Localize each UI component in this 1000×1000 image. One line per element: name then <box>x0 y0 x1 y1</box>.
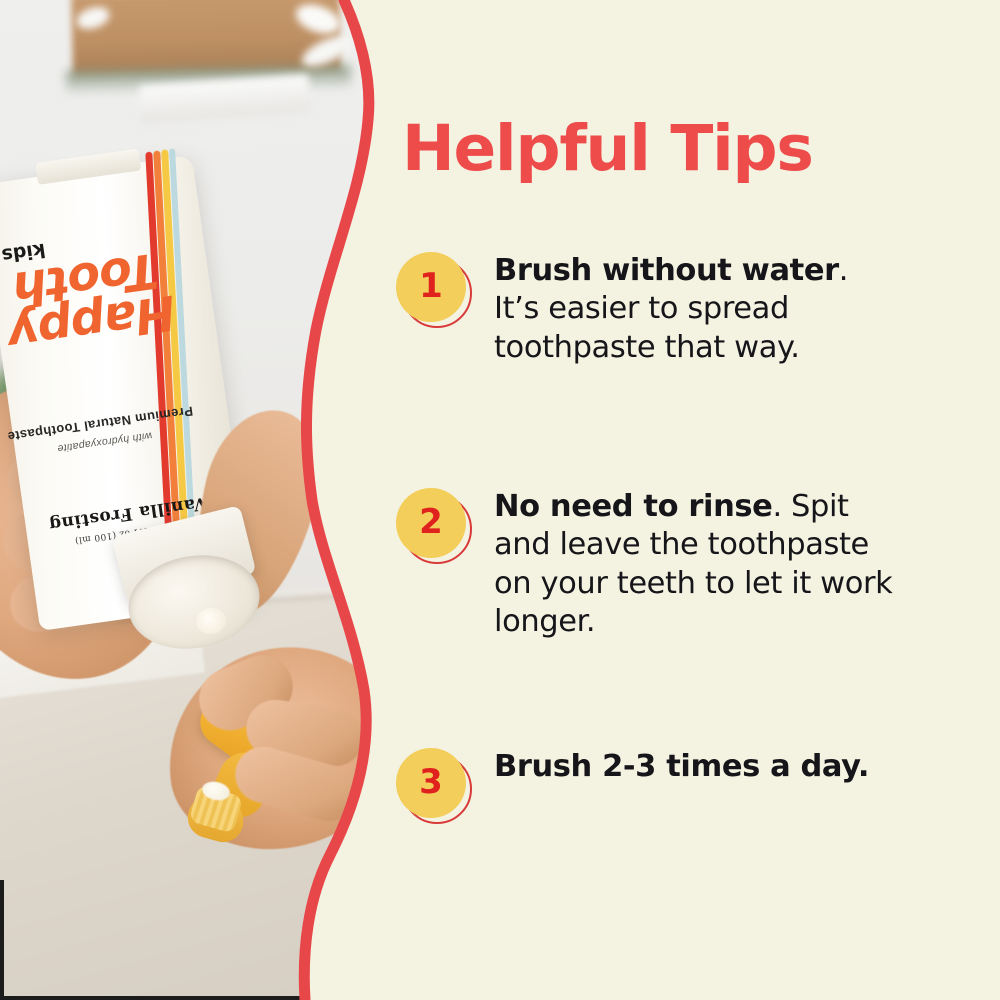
tips-panel: Helpful Tips 1 Brush without water. It’s… <box>380 0 1000 1000</box>
tip-badge: 1 <box>394 252 472 330</box>
badge-number: 3 <box>419 765 443 799</box>
tip-badge: 2 <box>394 488 472 566</box>
page-title: Helpful Tips <box>402 112 902 185</box>
tip-item: 3 Brush 2-3 times a day. <box>394 748 914 826</box>
badge-number: 1 <box>419 269 443 303</box>
tip-badge: 3 <box>394 748 472 826</box>
tip-text: No need to rinse. Spit and leave the too… <box>494 488 902 642</box>
tip-lead: Brush 2-3 times a day. <box>494 749 869 784</box>
tip-item: 1 Brush without water. It’s easier to sp… <box>394 252 914 367</box>
product-photo: kids Happy Tooth Premium Natural Toothpa… <box>0 0 380 1000</box>
badge-fill: 3 <box>396 748 466 818</box>
tip-text: Brush without water. It’s easier to spre… <box>494 252 902 367</box>
tip-lead: No need to rinse <box>494 489 772 524</box>
infographic-canvas: kids Happy Tooth Premium Natural Toothpa… <box>0 0 1000 1000</box>
tip-lead: Brush without water <box>494 253 839 288</box>
tip-item: 2 No need to rinse. Spit and leave the t… <box>394 488 914 642</box>
badge-fill: 1 <box>396 252 466 322</box>
badge-number: 2 <box>419 505 443 539</box>
badge-fill: 2 <box>396 488 466 558</box>
tip-text: Brush 2-3 times a day. <box>494 748 869 786</box>
photo-bottom-border <box>0 996 380 1000</box>
photo-left-border <box>0 880 4 1000</box>
tube-brand-logo: Happy Tooth <box>0 245 182 357</box>
